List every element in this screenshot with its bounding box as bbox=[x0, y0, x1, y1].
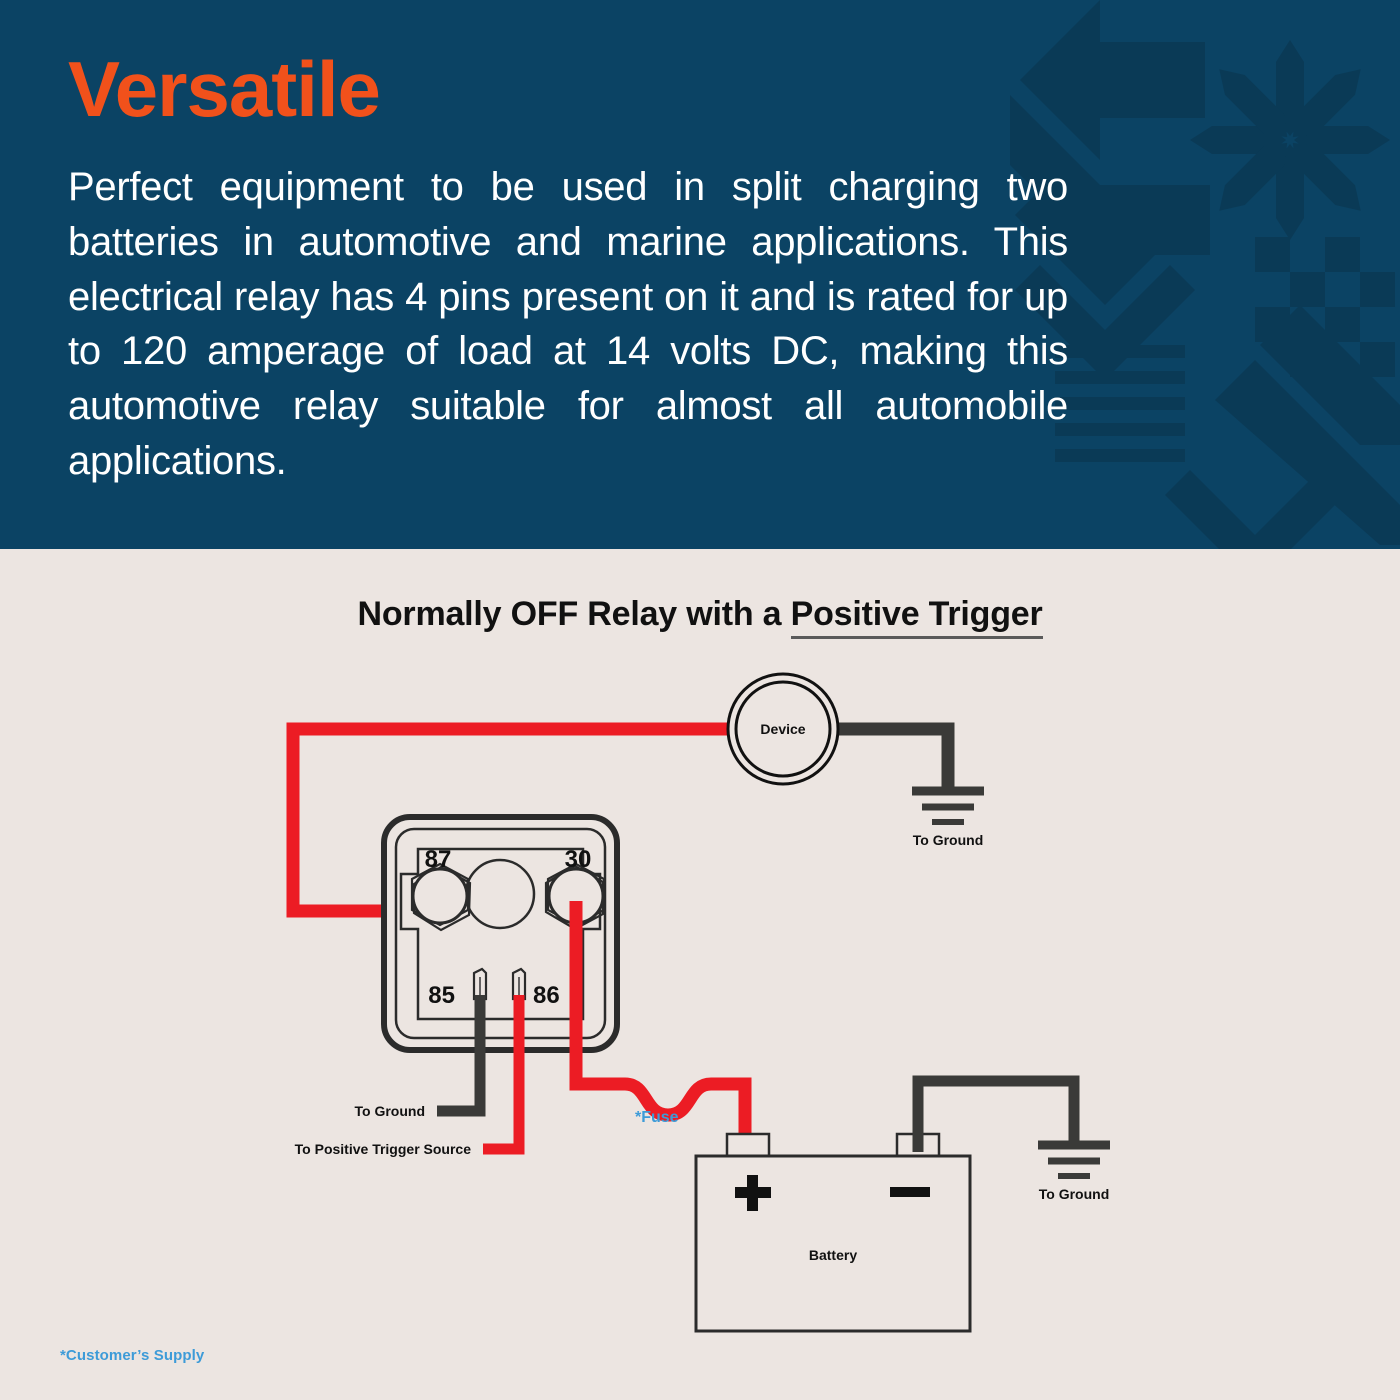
battery-case bbox=[696, 1156, 970, 1331]
footnote-customer-supply: *Customer’s Supply bbox=[60, 1347, 204, 1364]
header-section: Versatile Perfect equipment to be used i… bbox=[0, 0, 1400, 549]
infographic-page: Versatile Perfect equipment to be used i… bbox=[0, 0, 1400, 1400]
fuse-label: *Fuse bbox=[635, 1109, 679, 1126]
battery-label: Battery bbox=[809, 1247, 857, 1263]
battery-minus-symbol bbox=[890, 1187, 930, 1197]
battery-positive-post bbox=[727, 1134, 769, 1156]
pin-label-85: 85 bbox=[428, 982, 455, 1009]
ground-label-relay: To Ground bbox=[355, 1103, 426, 1119]
header-body-text: Perfect equipment to be used in split ch… bbox=[68, 160, 1068, 489]
page-title: Versatile bbox=[68, 52, 1078, 126]
ground-label-battery: To Ground bbox=[1039, 1186, 1110, 1202]
ground-symbol-battery bbox=[1038, 1145, 1110, 1176]
relay-terminal-86[interactable] bbox=[513, 969, 525, 999]
relay-center-circle bbox=[466, 860, 534, 928]
ground-symbol-device bbox=[912, 791, 984, 822]
ground-label-device: To Ground bbox=[913, 832, 984, 848]
device-label: Device bbox=[760, 721, 805, 737]
pin-label-30: 30 bbox=[565, 846, 592, 873]
relay-terminal-85[interactable] bbox=[474, 969, 486, 999]
battery: Battery bbox=[696, 1134, 970, 1331]
pin-label-87: 87 bbox=[425, 846, 452, 873]
wiring-diagram: To Ground Device 87 bbox=[0, 549, 1400, 1400]
pin-label-86: 86 bbox=[533, 982, 560, 1009]
wire-device-to-ground bbox=[838, 729, 948, 787]
trigger-source-label: To Positive Trigger Source bbox=[295, 1141, 472, 1157]
diagram-section: Normally OFF Relay with a Positive Trigg… bbox=[0, 549, 1400, 1400]
